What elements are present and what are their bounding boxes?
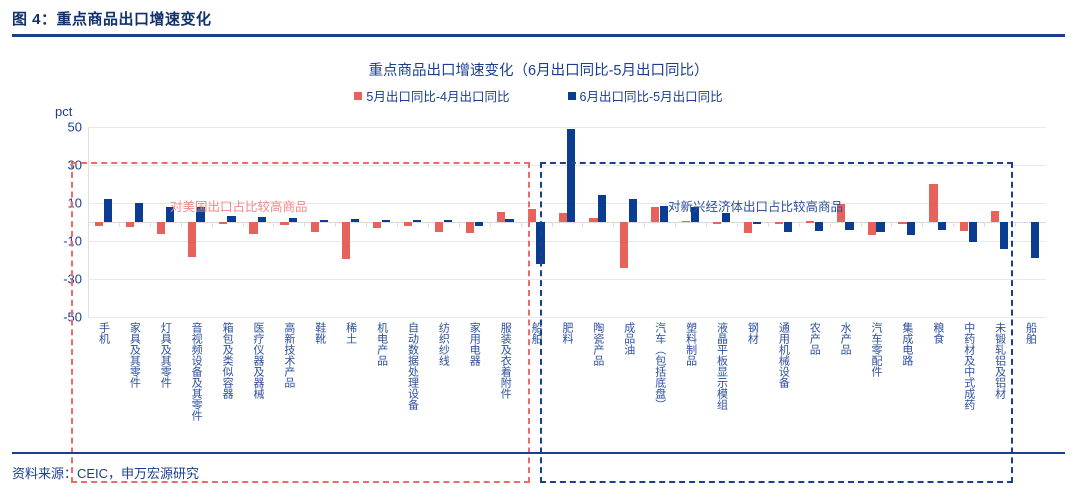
y-tick-label: 50 — [68, 120, 82, 135]
gridline — [88, 317, 1046, 318]
x-axis-label: 稀土 — [343, 322, 359, 344]
bar-series2[interactable] — [444, 220, 452, 222]
bar-series1[interactable] — [713, 222, 721, 224]
x-tick-mark — [953, 222, 954, 227]
bar-series1[interactable] — [960, 222, 968, 231]
x-tick-mark — [737, 222, 738, 227]
x-axis-label: 灯具及其零件 — [157, 322, 173, 388]
bar-series1[interactable] — [929, 184, 937, 222]
x-tick-mark — [521, 222, 522, 227]
bar-series2[interactable] — [938, 222, 946, 230]
bar-series1[interactable] — [435, 222, 443, 232]
region-label-us: 对美国出口占比较高商品 — [170, 196, 308, 215]
bar-series1[interactable] — [744, 222, 752, 233]
x-tick-mark — [335, 222, 336, 227]
bar-series1[interactable] — [806, 221, 814, 223]
figure-footer: 资料来源：CEIC，申万宏源研究 — [12, 452, 1065, 482]
bar-series2[interactable] — [1031, 222, 1039, 258]
x-axis-label: 汽车零配件 — [868, 322, 884, 377]
bar-series1[interactable] — [249, 222, 257, 234]
bar-series2[interactable] — [475, 222, 483, 226]
bar-series2[interactable] — [320, 220, 328, 222]
x-axis-label: 音视频设备及其零件 — [188, 322, 204, 421]
y-axis-unit-label: pct — [55, 104, 72, 119]
x-tick-mark — [1015, 222, 1016, 227]
footer-divider — [12, 452, 1065, 454]
bar-series1[interactable] — [651, 207, 659, 222]
bar-series2[interactable] — [104, 199, 112, 222]
x-tick-mark — [119, 222, 120, 227]
bar-series1[interactable] — [559, 213, 567, 223]
x-axis-label: 通用机械设备 — [775, 322, 791, 388]
bar-series2[interactable] — [629, 199, 637, 222]
legend-item-series2[interactable]: 6月出口同比-5月出口同比 — [568, 86, 723, 105]
y-tick-label: -30 — [63, 272, 82, 287]
x-tick-mark — [891, 222, 892, 227]
bar-series2[interactable] — [969, 222, 977, 242]
x-axis-label: 农产品 — [806, 322, 822, 355]
chart-legend: 5月出口同比-4月出口同比 6月出口同比-5月出口同比 — [0, 86, 1077, 105]
x-tick-mark — [552, 222, 553, 227]
x-axis-label: 汽车（包括底盘） — [652, 322, 668, 410]
bar-series2[interactable] — [227, 216, 235, 222]
bar-series1[interactable] — [373, 222, 381, 228]
bar-series2[interactable] — [505, 219, 513, 222]
bar-series1[interactable] — [991, 211, 999, 222]
x-tick-mark — [150, 222, 151, 227]
x-axis-label: 高新技术产品 — [281, 322, 297, 388]
bar-series2[interactable] — [289, 218, 297, 222]
x-tick-mark — [582, 222, 583, 227]
x-tick-mark — [212, 222, 213, 227]
x-tick-mark — [88, 222, 89, 227]
legend-swatch-series1 — [354, 92, 362, 100]
x-tick-mark — [273, 222, 274, 227]
x-tick-mark — [366, 222, 367, 227]
x-axis-label: 塑料制品 — [683, 322, 699, 366]
x-tick-mark — [984, 222, 985, 227]
y-tick-label: 30 — [68, 158, 82, 173]
y-tick-label: -50 — [63, 310, 82, 325]
x-axis-label: 未锻轧铝及铝材 — [992, 322, 1008, 399]
legend-label-series2: 6月出口同比-5月出口同比 — [580, 86, 723, 105]
x-axis-label: 液晶平板显示模组 — [714, 322, 730, 410]
x-axis-label: 自动数据处理设备 — [404, 322, 420, 410]
x-axis-label: 中药材及中式成药 — [961, 322, 977, 410]
bar-series1[interactable] — [311, 222, 319, 232]
gridline — [88, 241, 1046, 242]
bar-series1[interactable] — [775, 222, 783, 224]
title-divider — [12, 34, 1065, 37]
gridline — [88, 127, 1046, 128]
bar-series2[interactable] — [907, 222, 915, 235]
bar-series2[interactable] — [413, 220, 421, 222]
x-axis-label: 集成电路 — [899, 322, 915, 366]
x-tick-mark — [768, 222, 769, 227]
bar-series1[interactable] — [528, 209, 536, 222]
x-axis-label: 钢材 — [744, 322, 760, 344]
legend-item-series1[interactable]: 5月出口同比-4月出口同比 — [354, 86, 509, 105]
x-tick-mark — [861, 222, 862, 227]
plot-area — [88, 127, 1046, 317]
bar-series2[interactable] — [382, 220, 390, 222]
x-tick-mark — [181, 222, 182, 227]
source-note: 资料来源：CEIC，申万宏源研究 — [12, 463, 1065, 482]
chart-container: 重点商品出口增速变化（6月出口同比-5月出口同比） 5月出口同比-4月出口同比 … — [0, 44, 1077, 444]
bar-series2[interactable] — [135, 203, 143, 222]
bar-series1[interactable] — [682, 221, 690, 223]
bar-series1[interactable] — [404, 222, 412, 226]
legend-label-series1: 5月出口同比-4月出口同比 — [366, 86, 509, 105]
x-tick-mark — [243, 222, 244, 227]
bar-series2[interactable] — [815, 222, 823, 231]
x-tick-mark — [304, 222, 305, 227]
x-axis-label: 成品油 — [621, 322, 637, 355]
page-title: 图 4：重点商品出口增速变化 — [12, 8, 1065, 29]
bar-series1[interactable] — [219, 222, 227, 224]
bar-series1[interactable] — [188, 222, 196, 257]
x-axis-label: 鞋靴 — [312, 322, 328, 344]
y-tick-label: -10 — [63, 234, 82, 249]
x-tick-mark — [675, 222, 676, 227]
bar-series2[interactable] — [845, 222, 853, 230]
bar-series2[interactable] — [258, 217, 266, 222]
bar-series1[interactable] — [126, 222, 134, 227]
chart-title: 重点商品出口增速变化（6月出口同比-5月出口同比） — [0, 59, 1077, 80]
x-axis-label: 服装及衣着附件 — [497, 322, 513, 399]
x-tick-mark — [397, 222, 398, 227]
y-tick-label: 10 — [68, 196, 82, 211]
x-axis-label: 家具及其零件 — [126, 322, 142, 388]
x-axis-label: 家用电器 — [466, 322, 482, 366]
bar-series2[interactable] — [753, 222, 761, 224]
bar-series1[interactable] — [95, 222, 103, 226]
bar-series2[interactable] — [876, 222, 884, 232]
x-axis-label: 医疗仪器及器械 — [250, 322, 266, 399]
x-axis-label: 箱包及类似容器 — [219, 322, 235, 399]
x-tick-mark — [706, 222, 707, 227]
x-axis-label: 纺织纱线 — [435, 322, 451, 366]
bar-series1[interactable] — [497, 212, 505, 222]
bar-series2[interactable] — [536, 222, 544, 264]
gridline — [88, 279, 1046, 280]
bar-series2[interactable] — [567, 129, 575, 222]
legend-swatch-series2 — [568, 92, 576, 100]
x-tick-mark — [922, 222, 923, 227]
x-axis-label: 陶瓷产品 — [590, 322, 606, 366]
region-label-emerging: 对新兴经济体出口占比较高商品 — [668, 196, 843, 215]
x-tick-mark — [459, 222, 460, 227]
bar-series2[interactable] — [784, 222, 792, 232]
x-axis-label: 肥料 — [559, 322, 575, 344]
bar-series2[interactable] — [351, 219, 359, 222]
x-axis-label: 手机 — [95, 322, 111, 344]
figure-header: 图 4：重点商品出口增速变化 — [12, 8, 1065, 37]
y-axis-tick-labels: 503010-10-30-50 — [36, 127, 82, 317]
x-tick-mark — [428, 222, 429, 227]
bar-series1[interactable] — [280, 222, 288, 225]
bar-series2[interactable] — [1000, 222, 1008, 249]
x-tick-mark — [644, 222, 645, 227]
bar-series2[interactable] — [598, 195, 606, 222]
bar-series2[interactable] — [660, 206, 668, 222]
bar-series1[interactable] — [466, 222, 474, 233]
bar-series1[interactable] — [868, 222, 876, 235]
bar-series1[interactable] — [898, 222, 906, 224]
x-axis-label: 水产品 — [837, 322, 853, 355]
x-axis-label: 船舶 — [1023, 322, 1039, 344]
x-axis-label: 船舶 — [528, 322, 544, 344]
bar-series1[interactable] — [620, 222, 628, 268]
bar-series1[interactable] — [157, 222, 165, 234]
x-tick-mark — [799, 222, 800, 227]
x-tick-mark — [490, 222, 491, 227]
bar-series1[interactable] — [342, 222, 350, 259]
x-axis-label: 粮食 — [930, 322, 946, 344]
bar-series1[interactable] — [589, 218, 597, 222]
x-tick-mark — [830, 222, 831, 227]
x-tick-mark — [613, 222, 614, 227]
x-axis-label: 机电产品 — [374, 322, 390, 366]
